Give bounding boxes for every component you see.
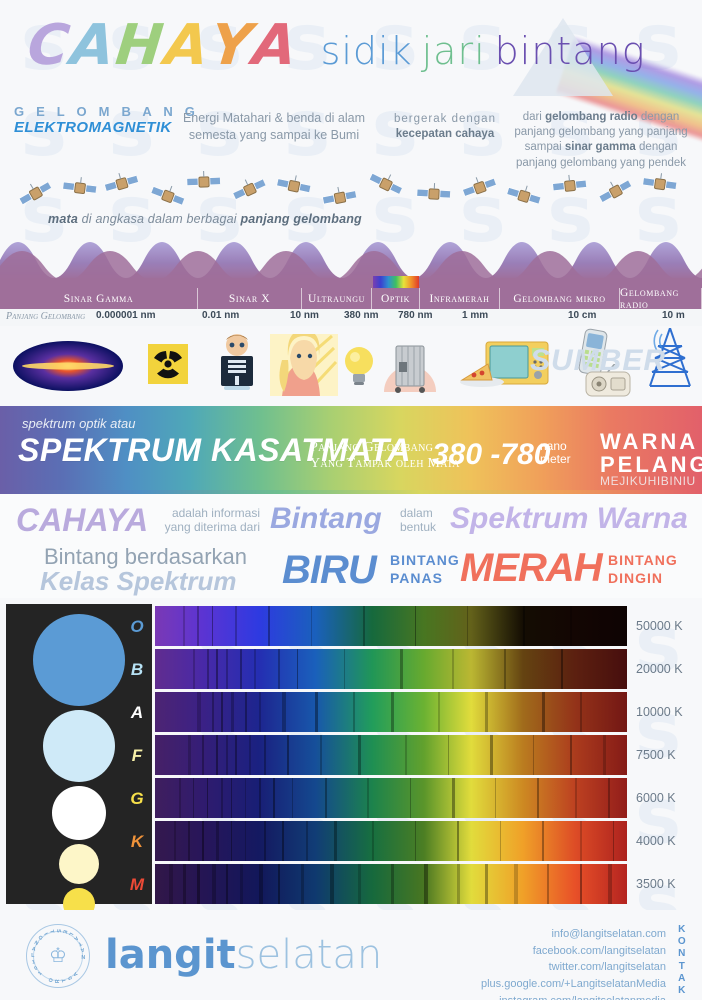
satellite-icon [62, 176, 96, 205]
centaur-icon: ♔ [45, 945, 71, 967]
spectral-class-letter-k: K [126, 832, 148, 852]
absorption-line [311, 606, 312, 646]
uv-sunbathing-icon [270, 334, 338, 401]
absorption-line [514, 864, 518, 904]
satellite-icon [462, 176, 496, 205]
absorption-line [358, 864, 361, 904]
elektromagnetik-label: ELEKTROMAGNETIK [14, 119, 199, 136]
kontak-letter: K [676, 985, 688, 997]
intro-col4-line3: sampai sinar gamma dengan [506, 140, 696, 155]
intro-col2-line1: Energi Matahari & benda di alam [174, 110, 374, 127]
absorption-line [613, 821, 615, 861]
temperature-label-o: 50000 K [636, 619, 683, 633]
absorption-line [570, 606, 571, 646]
absorption-line [400, 649, 402, 689]
star-disc-o [33, 614, 125, 706]
absorption-line [249, 735, 251, 775]
subtitle-word: sidik [321, 29, 413, 73]
xray-child-icon [210, 332, 264, 401]
spectrum-bands: Sinar GammaSinar XUltraunguOptikInframer… [0, 288, 702, 309]
title-letter: A [162, 18, 213, 74]
absorption-line [438, 692, 440, 732]
satellite-icon [322, 186, 356, 215]
contact-link[interactable]: instagram.com/langitselatanmedia [481, 993, 666, 1000]
absorption-line [542, 821, 544, 861]
absorption-line [197, 864, 200, 904]
absorption-line [226, 649, 228, 689]
star-disc-f [59, 844, 99, 884]
spectrum-strip-b[interactable] [155, 649, 627, 689]
spectral-class-letter-f: F [126, 746, 148, 766]
absorption-line [608, 778, 610, 818]
absorption-line [297, 649, 299, 689]
subtitle-word: bintang [495, 29, 646, 73]
sumber-watermark: SUMBER [530, 344, 666, 378]
satellite-icon [368, 172, 402, 201]
optical-rainbow-strip [373, 276, 419, 288]
spectral-class-letter-g: G [126, 789, 148, 809]
wavelength-axis-label: Panjang Gelombang [6, 311, 85, 322]
rainbow-mnemonic: MEJIKUHIBINIU [600, 474, 696, 488]
absorption-line [212, 692, 214, 732]
visible-unit-line2: meter [540, 453, 571, 466]
absorption-line [259, 864, 263, 904]
absorption-line [231, 692, 234, 732]
gamma-sky-map-icon [12, 340, 124, 397]
spectral-class-letter-m: M [126, 875, 148, 895]
absorption-line [372, 821, 374, 861]
infrared-heater-icon [378, 334, 442, 401]
absorption-line [282, 692, 285, 732]
satellites-caption: mata di angkasa dalam berbagai panjang g… [48, 212, 362, 226]
statement-bintang: Bintang [270, 502, 382, 536]
satellite-icon [186, 170, 220, 199]
absorption-line [197, 606, 198, 646]
absorption-line [344, 649, 346, 689]
absorption-line [490, 735, 493, 775]
absorption-line [264, 821, 266, 861]
kontak-letter: O [676, 936, 688, 948]
statement-note2: dalam bentuk [400, 506, 436, 534]
satellite-icon [276, 174, 310, 203]
absorption-line [415, 606, 416, 646]
kontak-label: KONTAK [676, 924, 688, 997]
absorption-line [457, 864, 460, 904]
langitselatan-logo: LANGITSELATAN ASTRO 101 ♔ [26, 924, 90, 988]
absorption-line [292, 778, 294, 818]
absorption-line [259, 778, 261, 818]
statement-note1-line1: adalah informasi [152, 506, 260, 520]
absorption-line [273, 778, 275, 818]
star-disc-a [52, 786, 106, 840]
absorption-line [330, 864, 334, 904]
absorption-line [202, 821, 204, 861]
statement-spektrum-warna: Spektrum Warna [450, 502, 688, 536]
absorption-line [306, 821, 308, 861]
absorption-line [216, 735, 218, 775]
title-letter: Y [208, 18, 256, 74]
absorption-line [452, 649, 454, 689]
statement-dingin-line2: DINGIN [608, 570, 678, 588]
absorption-line [358, 735, 361, 775]
spectrum-strip-f[interactable] [155, 735, 627, 775]
absorption-line [212, 864, 216, 904]
kontak-letter: A [676, 973, 688, 985]
statement-note1-line2: yang diterima dari [152, 520, 260, 534]
statement-cahaya: CAHAYA [16, 502, 148, 539]
logo-ring-letter: N [81, 953, 85, 959]
spectrum-band-gelombang-mikro[interactable]: Gelombang mikro [500, 288, 620, 309]
absorption-line [226, 735, 229, 775]
absorption-line [580, 821, 582, 861]
wavelength-tick: 10 nm [290, 310, 319, 321]
statement-panas-line2: PANAS [390, 570, 460, 588]
absorption-line [183, 864, 186, 904]
temperature-label-m: 3500 K [636, 877, 676, 891]
wavelength-tick: 0.01 nm [202, 310, 239, 321]
logo-ring-letter: T [61, 978, 68, 983]
satellite-icon [18, 182, 52, 211]
intro-col2-line2: semesta yang sampai ke Bumi [174, 127, 374, 144]
intro-col3-line2: kecepatan cahaya [384, 127, 506, 142]
em-spectrum-bar: Sinar GammaSinar XUltraunguOptikInframer… [0, 278, 702, 326]
absorption-line [193, 649, 195, 689]
spectrum-gradient [155, 606, 627, 646]
gelombang-label: G E L O M B A N G [14, 104, 199, 119]
absorption-line [424, 864, 428, 904]
absorption-line [197, 692, 200, 732]
temperature-label-f: 7500 K [636, 748, 676, 762]
intro-section: G E L O M B A N G ELEKTROMAGNETIK Energi… [0, 100, 702, 170]
rainbow-label-line2: PELANGI [600, 453, 702, 476]
page-subtitle: sidikjaribintang [321, 29, 646, 73]
absorption-line [410, 778, 412, 818]
absorption-line [240, 649, 242, 689]
page-title: CAHAYA [28, 18, 299, 74]
absorption-line [467, 606, 468, 646]
visible-unit: nano meter [540, 440, 571, 466]
intro-col4-line2: panjang gelombang yang panjang [506, 125, 696, 140]
absorption-line [174, 821, 176, 861]
contact-link[interactable]: twitter.com/langitselatan [481, 959, 666, 976]
intro-col4-line1: dari gelombang radio dengan [506, 110, 696, 125]
absorption-line [504, 649, 506, 689]
visible-spectrum-section: spektrum optik atau SPEKTRUM KASATMATA P… [0, 406, 702, 490]
absorption-line [221, 778, 223, 818]
temperature-label-g: 6000 K [636, 791, 676, 805]
statement-dingin-line1: BINTANG [608, 552, 678, 570]
absorption-line [523, 606, 525, 646]
sources-icon-row: SUMBER [0, 326, 702, 406]
absorption-line [334, 821, 336, 861]
statement-section: CAHAYA adalah informasi yang diterima da… [0, 490, 702, 598]
title-letter: A [250, 18, 301, 74]
star-disc-b [43, 710, 115, 782]
absorption-line [245, 821, 247, 861]
light-bulb-icon [342, 344, 376, 393]
absorption-line [495, 778, 497, 818]
absorption-line [363, 606, 365, 646]
absorption-line [561, 649, 563, 689]
contact-link[interactable]: info@langitselatan.com [481, 926, 666, 943]
statement-biru: BIRU [282, 548, 376, 593]
statement-note2-line2: bentuk [400, 520, 436, 534]
rainbow-label: WARNA PELANGI [600, 430, 702, 476]
absorption-line [212, 606, 213, 646]
brand-bold: langit [105, 932, 236, 978]
statement-bintang-dingin: BINTANG DINGIN [608, 552, 678, 587]
wavelength-tick: 10 cm [568, 310, 596, 321]
statement-bintang-panas: BINTANG PANAS [390, 552, 460, 587]
logo-ring-letter: R [55, 979, 61, 983]
absorption-line [235, 735, 237, 775]
absorption-line [391, 692, 394, 732]
kontak-letter: K [676, 924, 688, 936]
absorption-line [457, 821, 459, 861]
intro-col3-line1: bergerak dengan [384, 112, 506, 127]
infographic-page: ssssssssssssssssssssssssssssssssssssssss… [0, 0, 702, 1000]
absorption-line [533, 735, 535, 775]
satellite-icon [506, 184, 540, 213]
title-letter: H [114, 18, 169, 74]
rainbow-label-line1: WARNA [600, 430, 702, 453]
absorption-line [278, 864, 281, 904]
absorption-line [485, 864, 488, 904]
absorption-line [570, 735, 572, 775]
wavelength-tick: 1 mm [462, 310, 488, 321]
absorption-line [216, 649, 218, 689]
title-letter: C [25, 18, 74, 74]
absorption-line [207, 778, 209, 818]
title-letter: A [68, 18, 119, 74]
absorption-line [603, 735, 606, 775]
subtitle-word: jari [422, 29, 486, 73]
absorption-line [537, 778, 539, 818]
statement-merah: MERAH [460, 546, 602, 591]
satellite-icon [642, 172, 676, 201]
absorption-line [547, 864, 550, 904]
absorption-line [325, 778, 327, 818]
spectrum-band-sinar-gamma[interactable]: Sinar Gamma [0, 288, 198, 309]
statement-kelas-spektrum: Kelas Spektrum [40, 566, 237, 597]
absorption-line [320, 735, 322, 775]
wavelength-tick: 380 nm [344, 310, 378, 321]
footer-section: LANGITSELATAN ASTRO 101 ♔ langitselatan … [0, 910, 702, 1000]
intro-col2: Energi Matahari & benda di alam semesta … [174, 110, 374, 143]
absorption-line [580, 692, 582, 732]
statement-note1: adalah informasi yang diterima dari [152, 506, 260, 534]
absorption-line [391, 864, 394, 904]
absorption-line [259, 692, 261, 732]
absorption-line [193, 778, 195, 818]
spectral-class-letter-b: B [126, 660, 148, 680]
spectrum-strip-a[interactable] [155, 692, 627, 732]
satellite-icon [598, 180, 632, 209]
header-section: CAHAYA sidikjaribintang [0, 0, 702, 100]
absorption-line [231, 821, 233, 861]
absorption-line [301, 864, 304, 904]
satellite-icon [150, 184, 184, 213]
absorption-line [226, 864, 229, 904]
electromagnetic-label: G E L O M B A N G ELEKTROMAGNETIK [14, 104, 199, 136]
absorption-line [245, 778, 247, 818]
absorption-line [216, 821, 218, 861]
logo-ring-letter: I [42, 932, 48, 937]
spectrum-gradient [155, 821, 627, 861]
intro-col4-line4: panjang gelombang yang pendek [506, 156, 696, 171]
contact-link[interactable]: facebook.com/langitselatan [481, 943, 666, 960]
absorption-line [485, 692, 487, 732]
statement-note2-line1: dalam [400, 506, 436, 520]
absorption-line [235, 606, 237, 646]
absorption-line [415, 821, 417, 861]
spectrum-band-sinar-x[interactable]: Sinar X [198, 288, 302, 309]
spectrum-gradient [155, 778, 627, 818]
absorption-line [580, 864, 583, 904]
spectrum-band-optik[interactable]: Optik [372, 288, 420, 309]
absorption-line [448, 735, 450, 775]
kontak-letter: N [676, 948, 688, 960]
satellite-icon [232, 178, 266, 207]
absorption-line [608, 864, 612, 904]
temperature-label-k: 4000 K [636, 834, 676, 848]
satellite-icon [416, 182, 450, 211]
absorption-line [231, 778, 233, 818]
kontak-letter: T [676, 961, 688, 973]
absorption-line [315, 692, 317, 732]
wavelength-tick: 10 m [662, 310, 685, 321]
wave-graphic [0, 220, 702, 280]
contact-list: info@langitselatan.comfacebook.com/langi… [481, 926, 666, 1000]
absorption-line [268, 606, 269, 646]
intro-col3: bergerak dengan kecepatan cahaya [384, 112, 506, 142]
absorption-line [240, 864, 243, 904]
statement-top-rainbow [0, 490, 702, 494]
satellite-icon [104, 172, 138, 201]
absorption-line [542, 692, 545, 732]
absorption-line [287, 735, 289, 775]
visible-subtitle: spektrum optik atau [22, 416, 135, 431]
spectral-class-letter-a: A [126, 703, 148, 723]
intro-col4: dari gelombang radio dengan panjang gelo… [506, 110, 696, 171]
logo-ring-letter: O [48, 977, 55, 983]
spectrum-strip-m[interactable] [155, 864, 627, 904]
absorption-line [245, 692, 247, 732]
satellites-waves-section: mata di angkasa dalam berbagai panjang g… [0, 170, 702, 280]
wavelength-row: Panjang Gelombang 0.000001 nm0.01 nm10 n… [0, 309, 702, 326]
spectrum-band-ultraungu[interactable]: Ultraungu [302, 288, 372, 309]
radiation-warning-icon [148, 344, 188, 389]
spectrum-strip-o[interactable] [155, 606, 627, 646]
wavelength-tick: 780 nm [398, 310, 432, 321]
spectrum-band-inframerah[interactable]: Inframerah [420, 288, 500, 309]
absorption-line [264, 735, 267, 775]
absorption-line [367, 778, 369, 818]
absorption-line [278, 649, 280, 689]
absorption-line [353, 692, 355, 732]
absorption-line [452, 778, 454, 818]
spectral-class-chart: OBAFGKM 50000 K20000 K10000 K7500 K6000 … [0, 600, 702, 910]
absorption-line [221, 692, 223, 732]
spectral-class-letter-o: O [126, 617, 148, 637]
absorption-line [500, 821, 502, 861]
absorption-line [254, 649, 256, 689]
absorption-line [282, 821, 284, 861]
absorption-line [405, 735, 407, 775]
logo-ring-letter: A [79, 946, 85, 953]
logo-ring-letter: S [67, 974, 74, 980]
visible-range-value: 380 -780 [432, 438, 550, 472]
title-wrap: CAHAYA sidikjaribintang [28, 18, 646, 74]
spectrum-band-gelombang-radio[interactable]: Gelombang radio [620, 288, 702, 309]
logo-ring-letter: T [48, 929, 55, 934]
absorption-line [183, 606, 185, 646]
temperature-label-a: 10000 K [636, 705, 683, 719]
logo-ring-letter: 1 [31, 959, 36, 966]
brand-light: selatan [236, 932, 383, 978]
absorption-line [207, 649, 209, 689]
absorption-line [169, 864, 173, 904]
contact-link[interactable]: plus.google.com/+LangitselatanMedia [481, 976, 666, 993]
spectrum-strip-k[interactable] [155, 821, 627, 861]
logo-ring-letter: 1 [37, 970, 44, 977]
temperature-label-b: 20000 K [636, 662, 683, 676]
statement-panas-line1: BINTANG [390, 552, 460, 570]
satellite-icon [552, 174, 586, 203]
brand-wordmark: langitselatan [105, 932, 382, 978]
absorption-line [202, 735, 204, 775]
absorption-line [179, 778, 181, 818]
wavelength-tick: 0.000001 nm [96, 310, 156, 321]
absorption-line [188, 821, 190, 861]
absorption-line [188, 735, 191, 775]
spectrum-bar-top [0, 278, 702, 288]
spectrum-strip-g[interactable] [155, 778, 627, 818]
absorption-line [575, 778, 577, 818]
